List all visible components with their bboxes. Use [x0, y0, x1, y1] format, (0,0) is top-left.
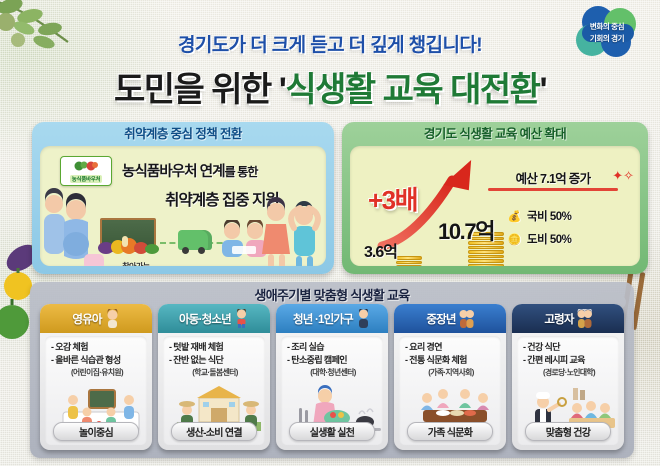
- baby-icon: [105, 309, 120, 328]
- funding-row-national: 💰 국비 50%: [508, 208, 624, 224]
- card-children-youth-title: 아동·청소년: [179, 311, 231, 327]
- elderly-icon: [577, 309, 592, 328]
- child-icon: [234, 309, 249, 328]
- card-children-youth-bullets: - 텃밭 재배 체험 - 잔반 없는 식단 (학교·돌봄센터): [169, 341, 261, 378]
- card-middle-aged-bullets: - 요리 경연 - 전통 식문화 체험 (가족·지역사회): [405, 341, 497, 378]
- card-young-single-bullet-2: - 탄소중립 캠페인: [287, 354, 379, 367]
- budget-underline: [488, 188, 618, 191]
- funding-breakdown-list: 💰 국비 50% 🪙 도비 50%: [508, 208, 624, 254]
- card-middle-aged-footer: 가족 식문화: [407, 422, 493, 441]
- card-infant-bullet-2: - 올바른 식습관 형성: [51, 354, 143, 367]
- card-elderly-bullet-1: - 건강 식단: [523, 341, 615, 354]
- card-elderly-body: - 건강 식단 - 간편 레시피 교육 (경로당·노인대학): [517, 336, 619, 445]
- card-middle-aged-sub: (가족·지역사회): [405, 367, 497, 378]
- panel-left-body: 농식품바우처 농식품바우처 연계를 통한 취약계층 집중 지원: [40, 146, 326, 266]
- lifecycle-card-list: 영유아 - 오감 체험 - 올바른 식습관 형성 (어린이집·유치원): [40, 304, 624, 450]
- lead-thin-text: 를 통한: [225, 165, 258, 179]
- card-young-single-footer: 실생활 실천: [289, 422, 375, 441]
- cheering-people-illustration: [258, 186, 322, 266]
- logo-line-1: 변화의 중심: [590, 21, 624, 32]
- card-infant[interactable]: 영유아 - 오감 체험 - 올바른 식습관 형성 (어린이집·유치원): [40, 304, 152, 450]
- poster-canvas: 경기도가 더 크게 듣고 더 깊게 챙깁니다! 도민을 위한 '식생활 교육 대…: [0, 0, 660, 466]
- top-panels: 취약계층 중심 정책 전환 농식품바우처 농식품바우처 연계를 통한 취약계층 …: [0, 118, 660, 278]
- card-children-youth-bullet-1: - 텃밭 재배 체험: [169, 341, 261, 354]
- card-infant-bullets: - 오감 체험 - 올바른 식습관 형성 (어린이집·유치원): [51, 341, 143, 378]
- card-infant-sub: (어린이집·유치원): [51, 367, 143, 378]
- card-young-single-sub: (대학·청년센터): [287, 367, 379, 378]
- card-infant-body: - 오감 체험 - 올바른 식습관 형성 (어린이집·유치원): [45, 336, 147, 445]
- title-part-2: ': [539, 71, 546, 109]
- card-children-youth[interactable]: 아동·청소년 - 텃밭 재배 체험 - 잔반 없는 식단: [158, 304, 270, 450]
- card-middle-aged-title: 중장년: [426, 311, 455, 327]
- card-elderly-sub: (경로당·노인대학): [523, 367, 615, 378]
- panel-vulnerable-policy: 취약계층 중심 정책 전환 농식품바우처 농식품바우처 연계를 통한 취약계층 …: [32, 122, 334, 274]
- card-children-youth-bullet-2: - 잔반 없는 식단: [169, 354, 261, 367]
- coin-stack-small: [396, 256, 422, 266]
- budget-value-before: 3.6억: [364, 238, 397, 262]
- sparkle-icon: ✦✧: [612, 168, 634, 184]
- budget-multiplier: +3배: [368, 180, 417, 217]
- card-young-single-bullets: - 조리 실습 - 탄소중립 캠페인 (대학·청년센터): [287, 341, 379, 378]
- card-elderly-bullets: - 건강 식단 - 간편 레시피 교육 (경로당·노인대학): [523, 341, 615, 378]
- young-adult-icon: [356, 309, 371, 328]
- card-children-youth-body: - 텃밭 재배 체험 - 잔반 없는 식단 (학교·돌봄센터): [163, 336, 265, 445]
- funding-label-provincial: 도비 50%: [527, 231, 571, 247]
- lifecycle-section-title: 생애주기별 맞춤형 식생활 교육: [30, 285, 634, 304]
- title-part-1: 도민을 위한 ': [114, 71, 285, 109]
- page-title: 도민을 위한 '식생활 교육 대전환': [0, 62, 660, 111]
- panel-right-body: +3배 3.6억 10.7억 예산 7.1억 증가 ✦✧ 💰 국비 50%: [350, 146, 640, 266]
- header-subtitle: 경기도가 더 크게 듣고 더 깊게 챙깁니다!: [0, 30, 660, 57]
- card-middle-aged-header: 중장년: [394, 304, 506, 333]
- card-children-youth-header: 아동·청소년: [158, 304, 270, 333]
- lifecycle-section: 생애주기별 맞춤형 식생활 교육 영유아 - 오감 체: [30, 282, 634, 458]
- card-infant-bullet-1: - 오감 체험: [51, 341, 143, 354]
- card-infant-footer: 놀이중심: [53, 422, 139, 441]
- card-elderly-title: 고령자: [544, 311, 573, 327]
- caption-visiting-education: 찾아가는식생활 교육: [98, 262, 174, 266]
- card-children-youth-footer: 생산-소비 연결: [171, 422, 257, 441]
- panel-right-title: 경기도 식생활 교육 예산 확대: [344, 124, 646, 144]
- voucher-produce-icon: [71, 160, 101, 171]
- funding-label-national: 국비 50%: [527, 208, 571, 224]
- card-young-single-body: - 조리 실습 - 탄소중립 캠페인 (대학·청년센터): [281, 336, 383, 445]
- card-elderly-bullet-2: - 간편 레시피 교육: [523, 354, 615, 367]
- budget-value-after: 10.7억: [438, 214, 494, 246]
- money-bag-icon: 💰: [508, 210, 521, 223]
- card-young-single-title: 청년 ·1인가구: [293, 311, 353, 327]
- gyeonggi-province-logo: 변화의 중심 기회의 경기: [568, 4, 646, 60]
- funding-row-provincial: 🪙 도비 50%: [508, 231, 624, 247]
- card-middle-aged-bullet-1: - 요리 경연: [405, 341, 497, 354]
- budget-increase-note: 예산 7.1억 증가: [478, 168, 628, 187]
- poster-header: 경기도가 더 크게 듣고 더 깊게 챙깁니다! 도민을 위한 '식생활 교육 대…: [0, 0, 660, 118]
- card-middle-aged[interactable]: 중장년 - 요리 경연 - 전통 식문화 체험 (가족: [394, 304, 506, 450]
- coin-stack-icon: 🪙: [508, 233, 521, 246]
- card-middle-aged-bullet-2: - 전통 식문화 체험: [405, 354, 497, 367]
- title-highlight: 식생활 교육 대전환: [285, 71, 539, 109]
- card-middle-aged-body: - 요리 경연 - 전통 식문화 체험 (가족·지역사회): [399, 336, 501, 445]
- card-infant-header: 영유아: [40, 304, 152, 333]
- card-elderly-header: 고령자: [512, 304, 624, 333]
- card-young-single-header: 청년 ·1인가구: [276, 304, 388, 333]
- card-elderly-footer: 맞춤형 건강: [525, 422, 611, 441]
- card-elderly[interactable]: 고령자 - 건강 식단: [512, 304, 624, 450]
- card-infant-title: 영유아: [72, 311, 101, 327]
- food-truck-icon: [178, 230, 212, 250]
- panel-left-lead-1: 농식품바우처 연계를 통한: [122, 160, 322, 181]
- food-spread-illustration: [96, 234, 162, 256]
- lead-bold-text: 농식품바우처 연계: [122, 164, 225, 180]
- card-young-single[interactable]: 청년 ·1인가구 - 조리 실습 - 탄소중립 캠페인 (대학·청년센터): [276, 304, 388, 450]
- logo-line-2: 기회의 경기: [590, 33, 624, 44]
- panel-budget-expansion: 경기도 식생활 교육 예산 확대 +3배: [342, 122, 648, 274]
- card-children-youth-sub: (학교·돌봄센터): [169, 367, 261, 378]
- card-young-single-bullet-1: - 조리 실습: [287, 341, 379, 354]
- couple-icon: [459, 309, 474, 328]
- panel-left-title: 취약계층 중심 정책 전환: [34, 124, 332, 144]
